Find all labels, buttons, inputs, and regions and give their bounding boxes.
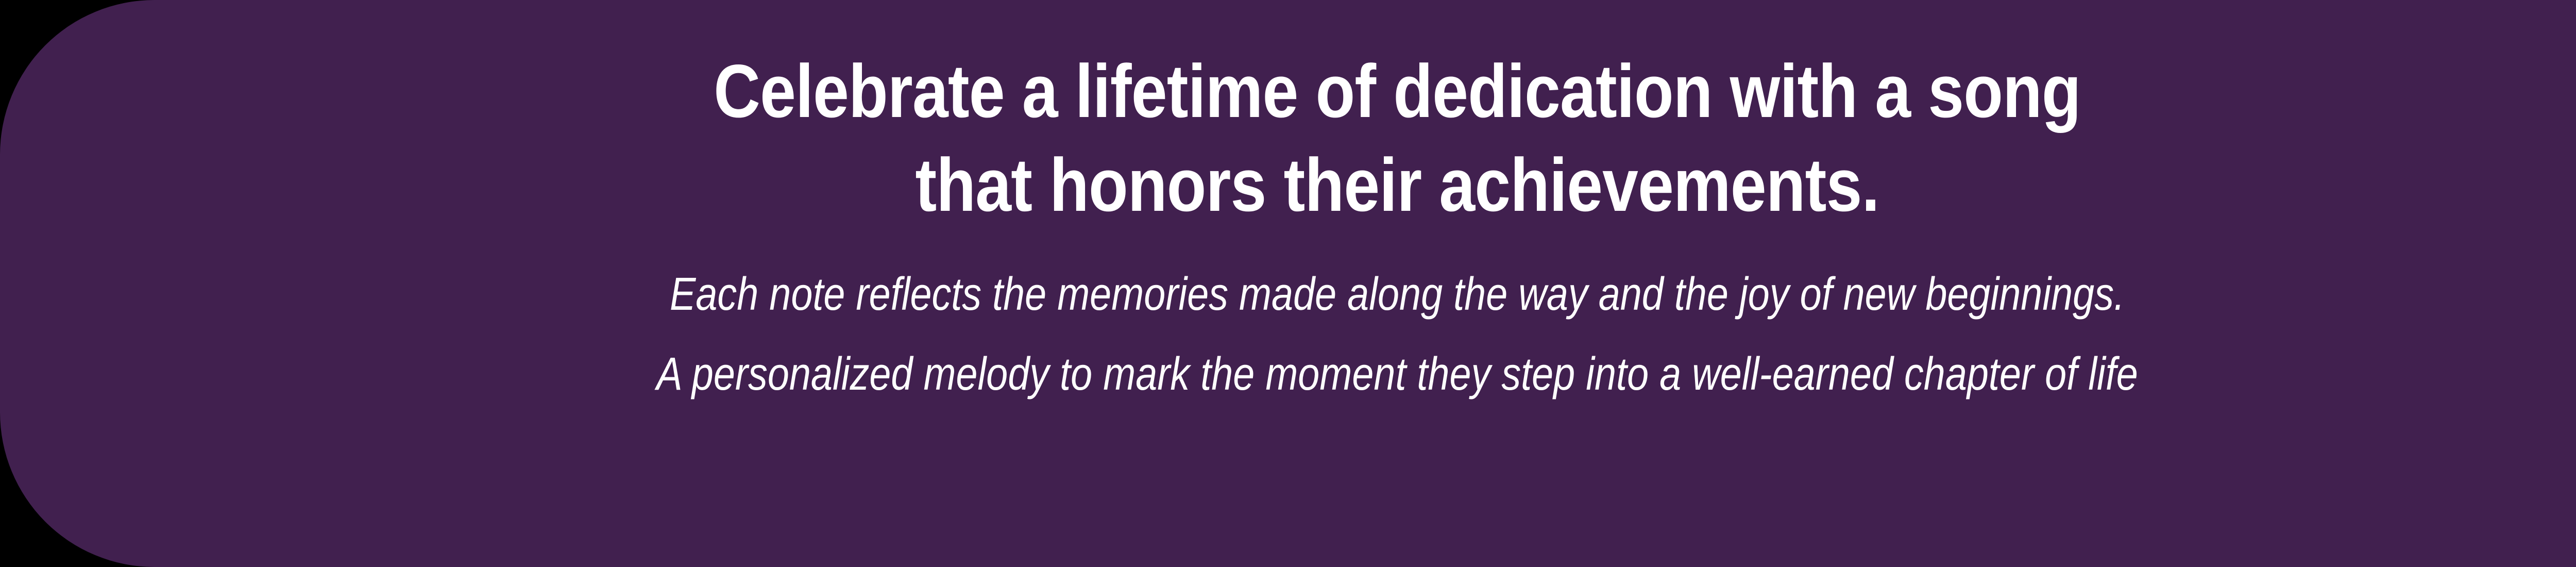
subheadline-line-2: A personalized melody to mark the moment…	[224, 335, 2571, 414]
subheadline-line-1: Each note reflects the memories made alo…	[224, 255, 2571, 335]
headline-line-2: that honors their achievements.	[196, 138, 2576, 232]
headline-group: Celebrate a lifetime of dedication with …	[0, 44, 2576, 232]
subheadline-group: Each note reflects the memories made alo…	[0, 255, 2576, 414]
hero-content: Celebrate a lifetime of dedication with …	[0, 0, 2576, 414]
headline-line-1: Celebrate a lifetime of dedication with …	[196, 44, 2576, 138]
hero-banner-card: Celebrate a lifetime of dedication with …	[0, 0, 2576, 567]
